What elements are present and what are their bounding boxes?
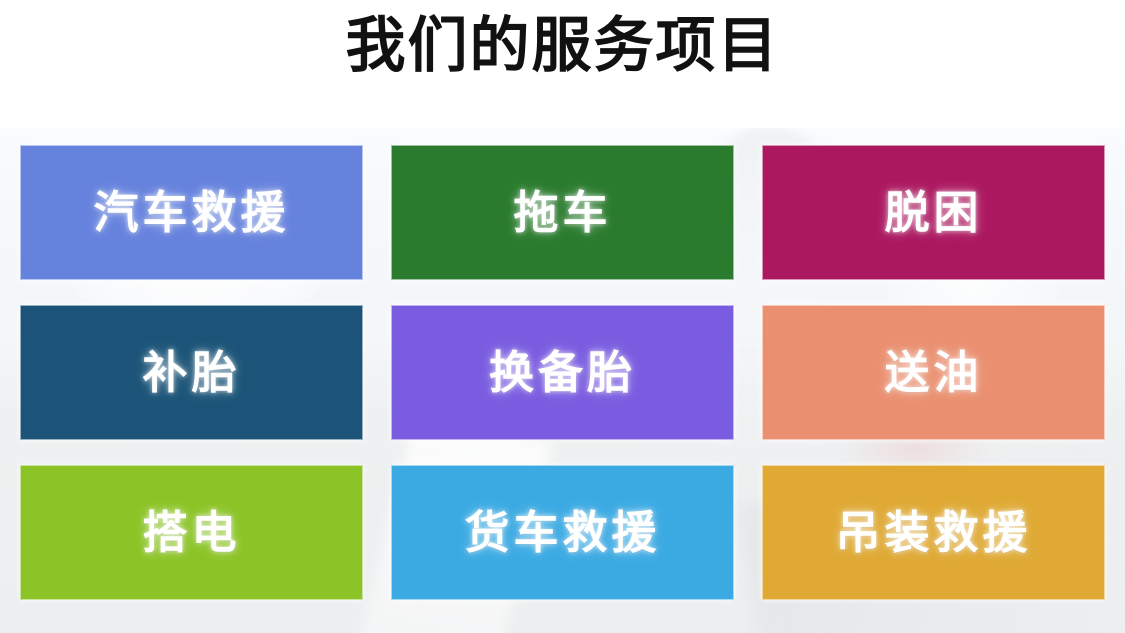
service-tile-label: 脱困 — [884, 190, 982, 235]
service-tile-truck-rescue[interactable]: 货车救援 — [391, 465, 734, 600]
service-tile-hoisting-rescue[interactable]: 吊装救援 — [762, 465, 1105, 600]
title-container: 我们的服务项目 — [0, 0, 1125, 126]
service-tile-label: 补胎 — [142, 350, 240, 395]
service-tile-label: 货车救援 — [464, 510, 660, 555]
service-tile-spare-tire[interactable]: 换备胎 — [391, 305, 734, 440]
service-tile-label: 换备胎 — [489, 350, 636, 395]
service-tile-label: 吊装救援 — [835, 510, 1031, 555]
service-tile-fuel-delivery[interactable]: 送油 — [762, 305, 1105, 440]
service-tile-extrication[interactable]: 脱困 — [762, 145, 1105, 280]
service-tile-label: 搭电 — [142, 510, 240, 555]
service-tile-label: 拖车 — [513, 190, 611, 235]
service-tile-car-rescue[interactable]: 汽车救援 — [20, 145, 363, 280]
service-tile-tire-repair[interactable]: 补胎 — [20, 305, 363, 440]
service-poster: 我们的服务项目 汽车救援 拖车 脱困 补胎 换备胎 送油 搭电 货车救援 吊装救… — [0, 0, 1125, 633]
service-tile-label: 送油 — [884, 350, 982, 395]
service-tile-jump-start[interactable]: 搭电 — [20, 465, 363, 600]
service-grid: 汽车救援 拖车 脱困 补胎 换备胎 送油 搭电 货车救援 吊装救援 — [20, 145, 1105, 600]
service-tile-towing[interactable]: 拖车 — [391, 145, 734, 280]
service-tile-label: 汽车救援 — [93, 190, 289, 235]
page-title: 我们的服务项目 — [346, 16, 780, 76]
